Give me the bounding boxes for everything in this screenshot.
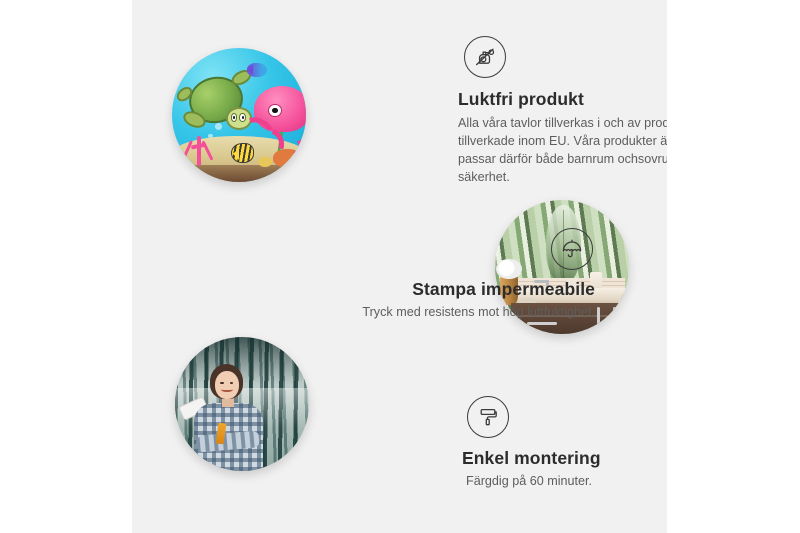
vanity-handle [527, 322, 556, 325]
woman-eye [220, 382, 223, 384]
feature-waterproof-print: Stampa impermeabile Tryck med resistens … [300, 228, 595, 322]
turtle-eye [231, 113, 237, 121]
photo-forest-painter-scene [175, 337, 309, 471]
sea-scene-artwork [172, 48, 306, 182]
coral [181, 126, 216, 166]
feature-title: Enkel montering [462, 448, 667, 469]
no-fragrance-icon [464, 36, 506, 78]
paint-roller-icon [467, 396, 509, 438]
feature-body: Alla våra tavlor tillverkas i och av pro… [458, 115, 667, 187]
vanity-handle [597, 307, 600, 328]
umbrella-icon [551, 228, 593, 270]
content-panel: Luktfri produkt Alla våra tavlor tillver… [132, 0, 667, 533]
feature-body: Tryck med resistens mot hög luftfuktighe… [300, 304, 595, 322]
woman-smile [221, 388, 233, 393]
octopus-eye [268, 104, 282, 117]
feature-easy-mounting: Enkel montering Färgdig på 60 minuter. [462, 396, 667, 491]
vanity-handle [613, 307, 616, 328]
woman-face [215, 371, 239, 399]
feature-title: Luktfri produkt [458, 89, 667, 110]
forest-painter-artwork [175, 337, 309, 471]
photo-sea-scene [172, 48, 306, 182]
sea-bottom-strip [172, 165, 306, 182]
feature-odour-free: Luktfri produkt Alla våra tavlor tillver… [458, 36, 667, 187]
woman-eye [230, 382, 233, 384]
page-root: Luktfri produkt Alla våra tavlor tillver… [0, 0, 800, 533]
feature-title: Stampa impermeabile [300, 279, 595, 300]
fish-yellow [231, 143, 254, 163]
feature-body: Färgdig på 60 minuter. [462, 473, 667, 491]
